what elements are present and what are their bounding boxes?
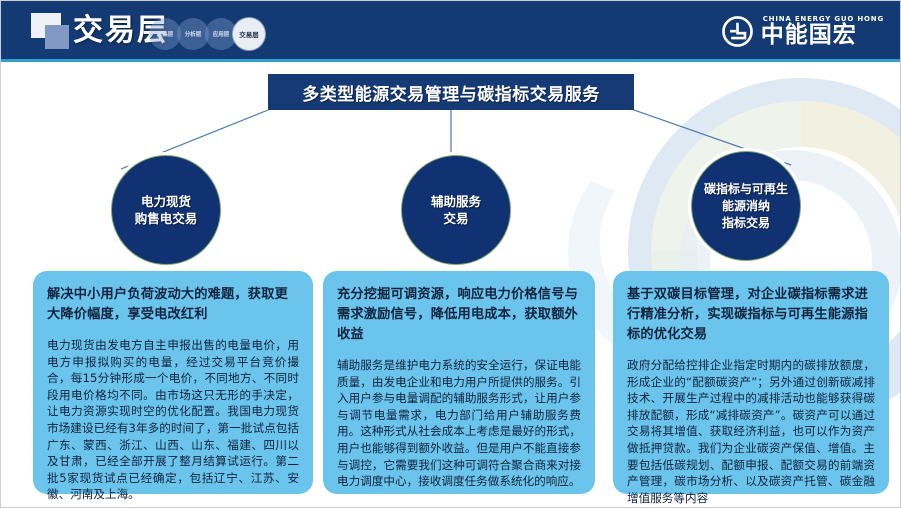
slide-canvas: 交易层 采集层 分析层 应用层 交易层 CHINA ENER [0, 0, 901, 508]
layer-circle-transaction-active[interactable]: 交易层 [233, 18, 265, 50]
layer-circle-label: 交易层 [239, 29, 259, 39]
card-headline: 基于双碳目标管理，对企业碳指标需求进行精准分析，实现碳指标与可再生能源指标的优化… [627, 285, 875, 345]
card-body-text: 政府分配给控排企业指定时期内的碳排放额度，形成企业的“配额碳资产”；另外通过创新… [627, 357, 875, 506]
main-title-banner: 多类型能源交易管理与碳指标交易服务 [268, 74, 634, 110]
content-card-spot-power: 解决中小用户负荷波动大的难题，获取更大降价幅度，享受电改红利 电力现货由发电方自… [33, 271, 313, 494]
card-body-text: 电力现货由发电方自主申报出售的电量电价，用电方申报拟购买的电量，经过交易平台竞价… [47, 337, 299, 503]
content-card-ancillary-services: 充分挖掘可调资源，响应电力价格信号与需求激励信号，降低用电成本，获取额外收益 辅… [323, 271, 595, 494]
node-circle-ancillary-services[interactable]: 辅助服务 交易 [401, 155, 511, 265]
node-label-line: 电力现货 [135, 193, 198, 210]
layer-circle-group: 采集层 分析层 应用层 交易层 [149, 18, 271, 50]
brand-logo: CHINA ENERGY GUO HONG 中能国宏 [721, 11, 884, 51]
main-title-text: 多类型能源交易管理与碳指标交易服务 [302, 80, 600, 105]
header-bar: 交易层 采集层 分析层 应用层 交易层 CHINA ENER [1, 1, 901, 61]
layer-circle-label: 采集层 [157, 30, 174, 38]
node-label: 电力现货 购售电交易 [135, 193, 198, 227]
header-underline [1, 59, 901, 62]
node-label: 辅助服务 交易 [431, 193, 481, 227]
node-label: 碳指标与可再生 能源消纳 指标交易 [704, 181, 788, 232]
brand-name-cn: 中能国宏 [761, 24, 884, 47]
node-circle-carbon-index-trading[interactable]: 碳指标与可再生 能源消纳 指标交易 [691, 151, 801, 261]
content-card-carbon-index: 基于双碳目标管理，对企业碳指标需求进行精准分析，实现碳指标与可再生能源指标的优化… [613, 271, 889, 494]
guohong-circle-logo-icon [721, 15, 754, 48]
card-body-text: 辅助服务是维护电力系统的安全运行，保证电能质量，由发电企业和电力用户所提供的服务… [337, 357, 581, 490]
node-circle-spot-power-trading[interactable]: 电力现货 购售电交易 [111, 155, 221, 265]
card-headline: 解决中小用户负荷波动大的难题，获取更大降价幅度，享受电改红利 [47, 285, 299, 325]
logo-squares-icon [31, 13, 79, 51]
node-label-line: 能源消纳 [704, 198, 788, 215]
card-headline: 充分挖掘可调资源，响应电力价格信号与需求激励信号，降低用电成本，获取额外收益 [337, 285, 581, 345]
node-label-line: 交易 [431, 210, 481, 227]
node-label-line: 碳指标与可再生 [704, 181, 788, 198]
node-label-line: 辅助服务 [431, 193, 481, 210]
node-label-line: 购售电交易 [135, 210, 198, 227]
layer-circle-label: 分析层 [185, 30, 202, 38]
node-label-line: 指标交易 [704, 215, 788, 232]
layer-circle-label: 应用层 [213, 30, 230, 38]
